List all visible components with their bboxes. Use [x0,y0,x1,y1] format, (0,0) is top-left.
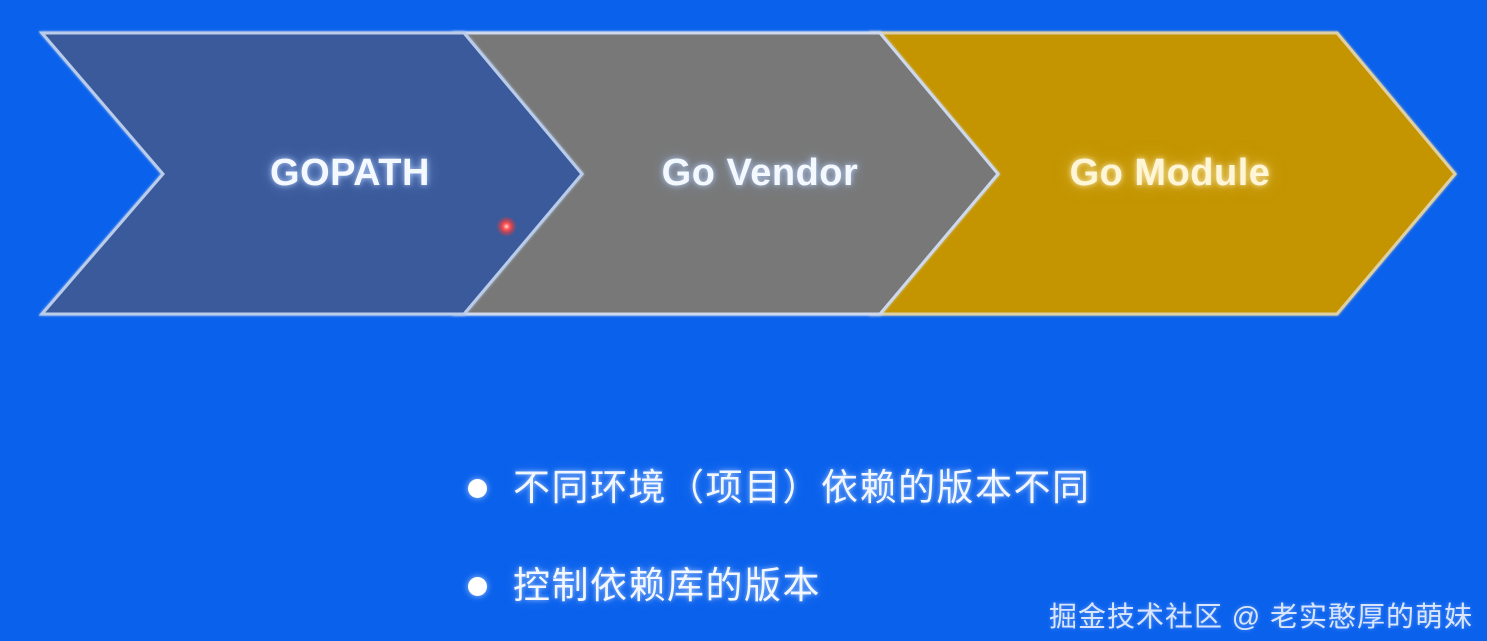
process-chevron-band: GOPATH Go Vendor Go Module [0,0,1487,340]
bullet-circle-icon [468,577,487,596]
slide-canvas: GOPATH Go Vendor Go Module 不同环境（项目）依赖的版本… [0,0,1487,641]
chevron-shape-gopath[interactable] [42,33,582,314]
process-chevron-graphic [0,0,1487,340]
bullet-circle-icon [468,479,487,498]
watermark-text: 掘金技术社区 @ 老实憨厚的萌妹 [1049,600,1473,634]
bullet-text: 不同环境（项目）依赖的版本不同 [513,466,1091,510]
bullet-text: 控制依赖库的版本 [513,564,821,608]
list-item: 不同环境（项目）依赖的版本不同 [468,457,1368,519]
